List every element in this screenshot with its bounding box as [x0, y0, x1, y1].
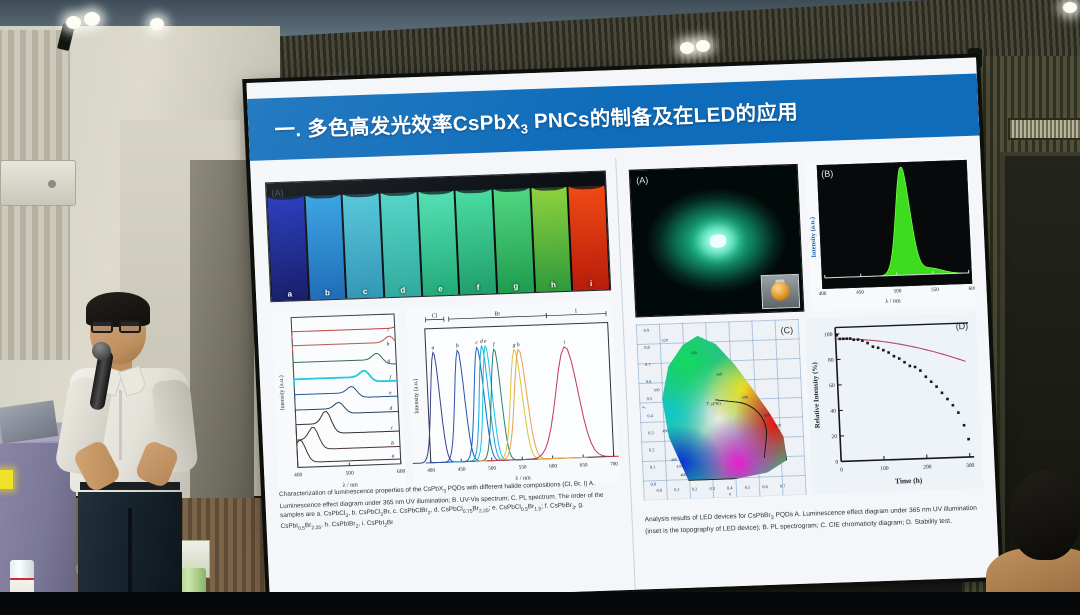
svg-text:0: 0 — [840, 467, 843, 473]
svg-text:600: 600 — [764, 413, 770, 418]
vial-meniscus — [455, 180, 491, 193]
vial-meniscus — [305, 185, 341, 198]
svg-text:620: 620 — [775, 422, 781, 427]
slide-right-column: (A) (B) 400450500550600λ / nmIntensity (… — [615, 145, 999, 589]
svg-text:0.5: 0.5 — [647, 396, 654, 401]
svg-text:460: 460 — [680, 472, 686, 477]
vial-label: e — [422, 284, 458, 294]
vial-label: a — [272, 289, 308, 299]
svg-text:a: a — [392, 453, 395, 459]
vials-photo-panel-a: (A) abcdefghi — [265, 171, 611, 303]
cie-axes: 0.00.10.20.30.40.50.60.70.00.10.20.30.40… — [636, 319, 807, 501]
vial-liquid — [531, 187, 571, 292]
stability-data-point — [882, 349, 885, 352]
svg-text:0.6: 0.6 — [762, 484, 769, 489]
svg-text:400: 400 — [427, 468, 435, 474]
svg-text:Intensity (a.u.): Intensity (a.u.) — [278, 375, 287, 410]
svg-text:d: d — [389, 406, 392, 412]
svg-text:500: 500 — [345, 470, 354, 476]
stability-data-point — [898, 357, 901, 360]
svg-text:h: h — [517, 342, 520, 348]
svg-text:0: 0 — [835, 460, 838, 466]
stability-data-point — [845, 337, 848, 340]
vial-b: b — [305, 181, 346, 300]
plot-svg: 400450500550600650700λ / nmIntensity (a.… — [406, 300, 620, 489]
pl-spectrogram-plot-area — [817, 160, 972, 289]
projection-screen[interactable]: 一. 多色高发光效率CsPbX3 PNCs的制备及在LED的应用 (A) abc… — [246, 58, 999, 603]
right-caption: Analysis results of LED devices for CsPb… — [644, 503, 987, 536]
spotlight-icon — [1063, 2, 1077, 13]
stability-data-point — [957, 411, 960, 414]
svg-text:a: a — [431, 345, 434, 351]
spotlight-icon — [84, 12, 100, 26]
air-conditioner-unit — [0, 160, 76, 206]
svg-text:550: 550 — [519, 464, 527, 470]
svg-text:0.3: 0.3 — [709, 486, 716, 491]
svg-text:400: 400 — [294, 472, 303, 478]
stability-data-point — [967, 438, 970, 441]
stability-fit-curve — [836, 335, 966, 366]
spotlight-icon — [680, 42, 694, 54]
spotlight-icon — [66, 16, 81, 29]
svg-text:80: 80 — [828, 358, 834, 364]
stability-plot: 0100200300020406080100Time (h)Relative I… — [805, 313, 984, 495]
stability-data-point — [866, 342, 869, 345]
chart-uv-vis-spectrum: 400500600λ / nmIntensity (a.u.)abcdefghi — [271, 308, 406, 494]
vial-f: f — [455, 176, 496, 295]
vial-liquid — [343, 194, 383, 299]
vial-label: f — [460, 282, 496, 292]
stability-data-point — [861, 339, 864, 342]
vial-meniscus — [267, 187, 303, 200]
svg-text:0.7: 0.7 — [645, 362, 652, 367]
svg-text:600: 600 — [549, 463, 557, 469]
svg-text:I: I — [575, 309, 577, 315]
stability-data-point — [887, 351, 890, 354]
vial-label: d — [385, 285, 421, 295]
svg-text:x: x — [728, 492, 732, 497]
svg-text:550: 550 — [931, 287, 939, 293]
svg-text:40: 40 — [830, 409, 836, 415]
svg-text:490: 490 — [662, 428, 668, 433]
vial-label: i — [573, 278, 609, 288]
svg-text:Intensity (a.u.): Intensity (a.u.) — [412, 379, 421, 414]
stability-data-point — [852, 338, 855, 341]
vial-meniscus — [418, 182, 454, 195]
svg-text:200: 200 — [923, 464, 932, 470]
svg-text:540: 540 — [691, 350, 697, 355]
slide-title-tail: PNCs的制备及在LED的应用 — [527, 101, 798, 133]
svg-text:Br: Br — [494, 311, 500, 317]
svg-text:0.0: 0.0 — [650, 482, 657, 487]
stability-data-point — [903, 361, 906, 364]
vial-meniscus — [568, 176, 604, 189]
svg-text:0.7: 0.7 — [780, 483, 787, 488]
stability-data-point — [946, 398, 949, 401]
vial-label: b — [309, 288, 345, 298]
led-inset-bulb — [771, 281, 791, 301]
slide-title: 一. 多色高发光效率CsPbX3 PNCs的制备及在LED的应用 — [248, 95, 799, 146]
svg-text:b: b — [391, 441, 394, 447]
stability-data-point — [951, 404, 954, 407]
svg-text:20: 20 — [831, 434, 837, 440]
led-device-inset-photo — [761, 274, 801, 309]
svg-text:0.8: 0.8 — [644, 345, 651, 350]
chart-pl-spectrum: 400450500550600650700λ / nmIntensity (a.… — [406, 300, 620, 489]
svg-text:0.0: 0.0 — [656, 488, 663, 493]
panel-tag-a-right: (A) — [636, 175, 648, 185]
stability-data-point — [908, 365, 911, 368]
stability-data-point — [849, 337, 852, 340]
shirt-placket — [119, 390, 122, 460]
glasses-lens-left — [91, 320, 113, 333]
vial-meniscus — [380, 183, 416, 196]
led-glow-photo-panel-a: (A) — [629, 164, 805, 318]
vial-e: e — [418, 177, 459, 296]
stability-data-point — [893, 355, 896, 358]
vial-meniscus — [342, 184, 378, 197]
svg-text:520: 520 — [662, 337, 668, 342]
vial-liquid — [268, 196, 308, 301]
svg-text:500: 500 — [488, 465, 496, 471]
stability-data-point — [963, 424, 966, 427]
svg-text:Time (h): Time (h) — [895, 476, 923, 486]
svg-text:560: 560 — [716, 371, 722, 376]
svg-text:580: 580 — [742, 395, 748, 400]
svg-text:600: 600 — [397, 469, 406, 475]
svg-text:Relative Intensity (%): Relative Intensity (%) — [811, 361, 822, 428]
svg-text:450: 450 — [458, 467, 466, 473]
stability-data-point — [857, 338, 860, 341]
svg-text:Cl: Cl — [432, 313, 438, 319]
svg-text:500: 500 — [894, 288, 902, 294]
stability-data-point — [871, 345, 874, 348]
svg-text:650: 650 — [580, 462, 588, 468]
vial-c: c — [342, 179, 383, 298]
presenter — [64, 294, 204, 615]
svg-text:0.3: 0.3 — [648, 430, 655, 435]
svg-text:0.4: 0.4 — [647, 413, 654, 418]
stability-data-point — [838, 338, 841, 341]
svg-text:300: 300 — [966, 463, 975, 469]
laser-pointer-spot — [0, 470, 13, 489]
slide: 一. 多色高发光效率CsPbX3 PNCs的制备及在LED的应用 (A) abc… — [246, 58, 999, 603]
left-chart-row: 400500600λ / nmIntensity (a.u.)abcdefghi… — [271, 300, 620, 494]
vial-d: d — [380, 178, 421, 297]
svg-text:h: h — [387, 341, 390, 347]
svg-text:y: y — [641, 405, 646, 409]
slide-body: (A) abcdefghi 400500600λ / nmIntensity (… — [250, 145, 999, 602]
vial-label: g — [498, 281, 534, 291]
svg-text:Intensity (a.u.): Intensity (a.u.) — [809, 217, 818, 258]
stability-data-point — [930, 380, 933, 383]
chart-cie-chromaticity: (C) 0.00.10.20.30.40.50.60.70.00.10.20.3… — [636, 319, 807, 501]
led-top-row: (A) (B) 400450500550600λ / nmIntensity (… — [629, 158, 976, 318]
chart-stability-test: (D) 0100200300020406080100Time (h)Relati… — [805, 313, 984, 495]
audience-member-head — [1010, 470, 1080, 560]
svg-text:450: 450 — [856, 290, 864, 296]
svg-text:60: 60 — [829, 383, 835, 389]
stability-data-point — [842, 337, 845, 340]
vial-liquid — [418, 191, 458, 296]
vial-label: h — [535, 280, 571, 290]
svg-text:g: g — [513, 342, 516, 348]
glasses-icon — [90, 320, 148, 333]
chart-led-pl-spectrogram: (B) 400450500550600λ / nmIntensity (a.u.… — [805, 158, 975, 312]
svg-text:0.2: 0.2 — [649, 447, 655, 452]
svg-text:λ / nm: λ / nm — [885, 298, 901, 305]
svg-text:0.2: 0.2 — [692, 486, 698, 491]
led-bottom-row: (C) 0.00.10.20.30.40.50.60.70.00.10.20.3… — [636, 313, 984, 501]
glasses-lens-right — [119, 320, 141, 333]
wall-vent — [1008, 118, 1080, 140]
slide-title-main: 一. 多色高发光效率CsPbX — [274, 110, 521, 142]
svg-text:d: d — [480, 339, 483, 345]
vial-meniscus — [493, 179, 529, 192]
led-bright-core — [710, 235, 727, 249]
spotlight-icon — [150, 18, 164, 30]
svg-text:b: b — [456, 343, 459, 349]
vial-i: i — [568, 172, 609, 291]
svg-text:100: 100 — [880, 466, 889, 472]
presentation-photo-scene: 一. 多色高发光效率CsPbX3 PNCs的制备及在LED的应用 (A) abc… — [0, 0, 1080, 615]
stability-data-point — [835, 334, 838, 337]
pl-spectrogram-axis-labels: 400450500550600λ / nm — [810, 282, 975, 312]
pl-spectrogram-area — [820, 165, 969, 278]
svg-text:0.5: 0.5 — [745, 485, 752, 490]
foreground-shadow — [0, 592, 1080, 615]
svg-text:470: 470 — [676, 464, 682, 469]
vial-liquid — [305, 195, 345, 300]
svg-text:0.1: 0.1 — [674, 487, 680, 492]
svg-text:0.1: 0.1 — [650, 464, 656, 469]
svg-text:0.9: 0.9 — [643, 328, 650, 333]
vial-liquid — [494, 188, 534, 293]
vial-liquid — [569, 186, 609, 291]
slide-title-bar: 一. 多色高发光效率CsPbX3 PNCs的制备及在LED的应用 — [247, 74, 979, 161]
stability-data-point — [941, 391, 944, 394]
stability-data-point — [877, 346, 880, 349]
vial-liquid — [456, 190, 496, 295]
svg-text:100: 100 — [824, 332, 833, 338]
vial-label: c — [347, 286, 383, 296]
stability-data-point — [924, 375, 927, 378]
stability-data-point — [914, 366, 917, 369]
stability-data-point — [919, 369, 922, 372]
svg-text:0.6: 0.6 — [646, 379, 653, 384]
slide-left-column: (A) abcdefghi 400500600λ / nmIntensity (… — [250, 158, 634, 602]
stability-data-point — [935, 385, 938, 388]
vial-h: h — [531, 173, 572, 292]
vial-g: g — [493, 174, 534, 293]
svg-text:500: 500 — [653, 387, 659, 392]
panel-tag-b-right: (B) — [821, 169, 833, 179]
vial-meniscus — [531, 178, 567, 191]
spotlight-icon — [696, 40, 710, 52]
plot-svg: 400500600λ / nmIntensity (a.u.)abcdefghi — [271, 308, 406, 494]
vial-a: a — [267, 182, 308, 301]
svg-text:700: 700 — [610, 461, 618, 467]
svg-text:T_c(°K): T_c(°K) — [706, 401, 721, 407]
svg-text:g: g — [387, 358, 390, 364]
svg-text:0.4: 0.4 — [727, 485, 734, 490]
svg-text:600: 600 — [969, 286, 976, 292]
svg-text:480: 480 — [671, 457, 677, 462]
vial-liquid — [381, 192, 421, 297]
air-conditioner-knob — [48, 180, 56, 188]
